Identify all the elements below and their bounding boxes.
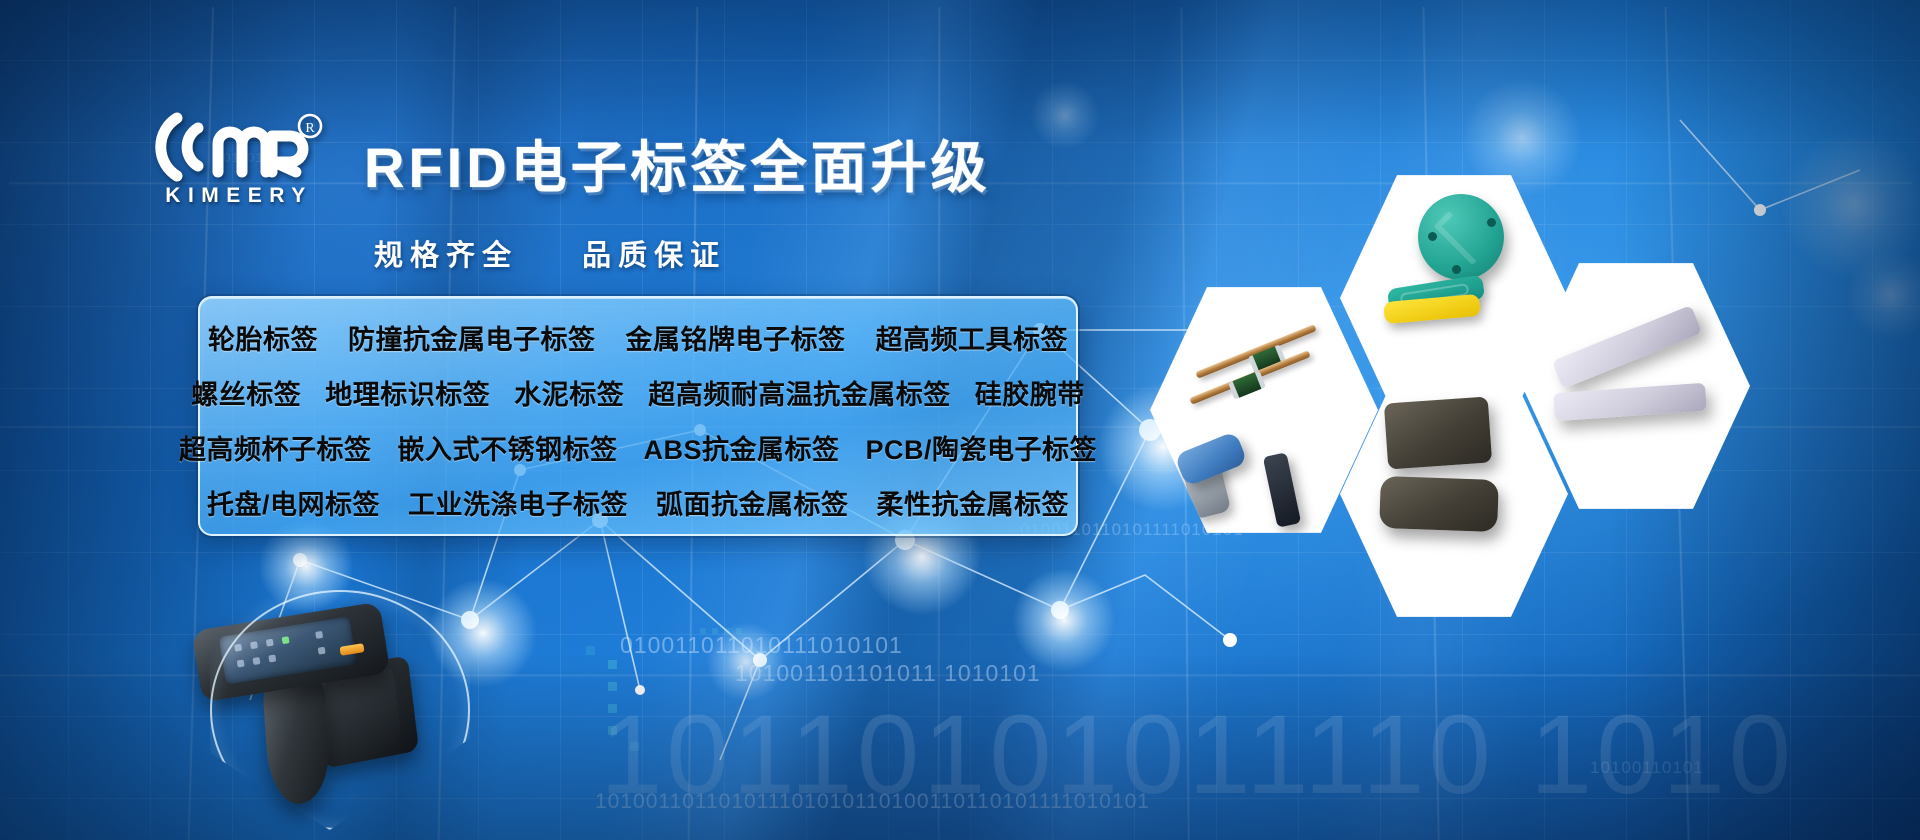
glow-blob — [1012, 568, 1116, 672]
brand-wordmark: KIMEERY — [156, 184, 322, 208]
tag-item: 水泥标签 — [512, 373, 626, 412]
black-bar-tag — [1263, 452, 1301, 527]
grey-long-anti-metal-tag — [1552, 305, 1702, 389]
rfid-promo-banner: 010011011010111010101 101001101101011 10… — [0, 0, 1920, 840]
tag-item: PCB/陶瓷电子标签 — [864, 428, 1100, 467]
tag-row: 轮胎标签 防撞抗金属电子标签 金属铭牌电子标签 超高频工具标签 — [200, 310, 1076, 365]
tag-item: 金属铭牌电子标签 — [624, 318, 848, 357]
tag-item: 防撞抗金属电子标签 — [346, 318, 598, 357]
glow-blob — [1030, 80, 1100, 150]
kimeery-logo[interactable]: R KIMEERY — [150, 104, 330, 210]
dark-rounded-anti-metal-tag — [1379, 476, 1499, 532]
tag-row: 超高频杯子标签 嵌入式不锈钢标签 ABS抗金属标签 PCB/陶瓷电子标签 — [200, 420, 1076, 475]
tag-item: 硅胶腕带 — [973, 373, 1087, 412]
pin-antenna-chip — [1228, 370, 1266, 399]
tag-item: 轮胎标签 — [206, 318, 320, 357]
grey-long-anti-metal-tag — [1553, 383, 1707, 422]
product-tag-list-panel: 轮胎标签 防撞抗金属电子标签 金属铭牌电子标签 超高频工具标签 螺丝标签 地理标… — [198, 296, 1078, 536]
product-hexagon-cluster — [1150, 170, 1790, 590]
glow-blob — [706, 622, 786, 702]
tag-item: 地理标识标签 — [323, 373, 492, 412]
tag-item: 螺丝标签 — [189, 373, 303, 412]
tag-item: 托盘/电网标签 — [205, 483, 382, 522]
dark-rectangular-anti-metal-tag — [1384, 396, 1492, 469]
tag-item: 弧面抗金属标签 — [654, 483, 851, 522]
subtitle-right: 品质保证 — [582, 240, 726, 272]
tag-item: 嵌入式不锈钢标签 — [395, 428, 619, 467]
page-title: RFID电子标签全面升级 — [364, 123, 991, 204]
tag-row: 托盘/电网标签 工业洗涤电子标签 弧面抗金属标签 柔性抗金属标签 — [200, 475, 1076, 530]
tag-item: 超高频耐高温抗金属标签 — [646, 373, 953, 412]
tag-item: ABS抗金属标签 — [641, 428, 841, 467]
svg-text:R: R — [305, 121, 315, 136]
tag-row: 螺丝标签 地理标识标签 水泥标签 超高频耐高温抗金属标签 硅胶腕带 — [200, 365, 1076, 420]
kimeery-wave-logo-icon: R — [150, 104, 330, 190]
tag-item: 超高频工具标签 — [874, 318, 1071, 357]
tag-item: 超高频杯子标签 — [177, 428, 374, 467]
tag-item: 工业洗涤电子标签 — [406, 483, 630, 522]
tag-item: 柔性抗金属标签 — [875, 483, 1072, 522]
subtitle-left: 规格齐全 — [374, 240, 518, 272]
teal-round-disc-tag — [1418, 194, 1504, 280]
rfid-handheld-reader[interactable] — [190, 600, 440, 840]
page-subtitle: 规格齐全 品质保证 — [374, 232, 726, 274]
reader-signal-arc — [210, 590, 470, 830]
